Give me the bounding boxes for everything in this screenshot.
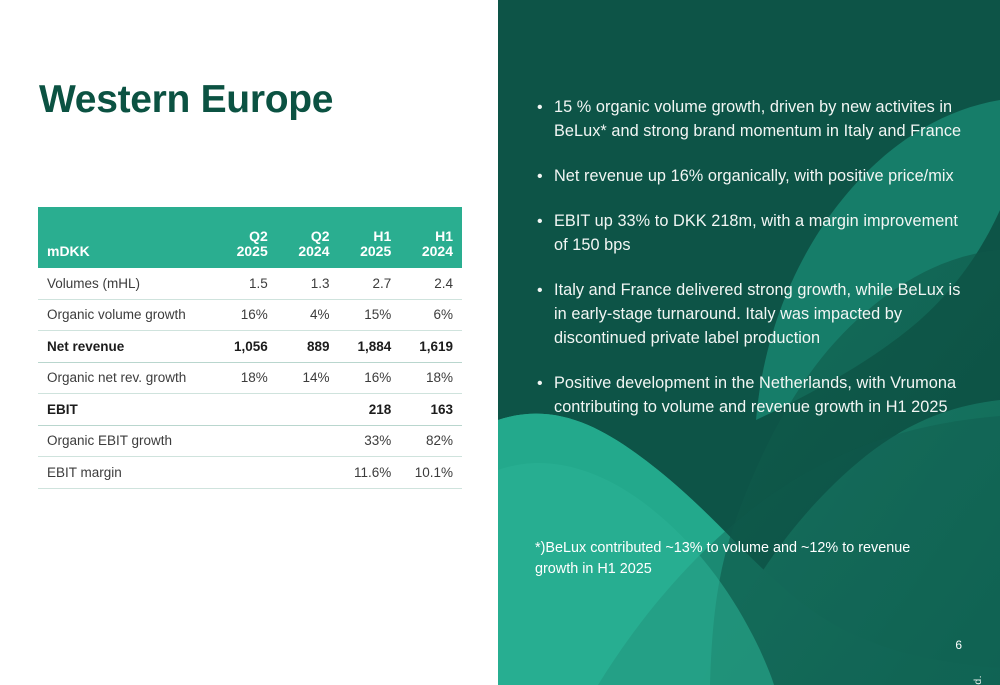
bullet-dot-icon: • (537, 96, 543, 120)
list-item-text: Italy and France delivered strong growth… (554, 281, 960, 347)
row-value-q2-2024: 889 (277, 331, 339, 363)
column-header-q2-2025: Q2 2025 (215, 207, 277, 268)
page-title: Western Europe (39, 78, 333, 122)
row-value-q2-2025 (215, 425, 277, 457)
list-item-text: 15 % organic volume growth, driven by ne… (554, 98, 961, 140)
column-header-h1-2025: H1 2025 (339, 207, 401, 268)
table-row: Organic volume growth 16% 4% 15% 6% (38, 299, 462, 331)
list-item-text: Positive development in the Netherlands,… (554, 374, 956, 416)
row-value-h1-2024: 1,619 (400, 331, 462, 363)
row-label: Organic volume growth (38, 299, 215, 331)
table-row: EBIT margin 11.6% 10.1% (38, 457, 462, 489)
table-row: Organic net rev. growth 18% 14% 16% 18% (38, 362, 462, 394)
page-number: 6 (955, 638, 962, 652)
row-value-h1-2024: 10.1% (400, 457, 462, 489)
list-item: • Positive development in the Netherland… (535, 372, 965, 420)
column-header-h1-2024: H1 2024 (400, 207, 462, 268)
row-value-q2-2025 (215, 394, 277, 426)
row-label: EBIT (38, 394, 215, 426)
table-row: Net revenue 1,056 889 1,884 1,619 (38, 331, 462, 363)
row-value-h1-2025: 15% (339, 299, 401, 331)
list-item: • Net revenue up 16% organically, with p… (535, 165, 965, 189)
list-item: • 15 % organic volume growth, driven by … (535, 96, 965, 144)
unit-label: mDKK (47, 244, 215, 260)
column-header-line1: Q2 (215, 229, 268, 245)
row-label: Organic net rev. growth (38, 362, 215, 394)
bullet-dot-icon: • (537, 372, 543, 396)
bullet-dot-icon: • (537, 210, 543, 234)
row-value-h1-2024: 6% (400, 299, 462, 331)
row-value-h1-2024: 18% (400, 362, 462, 394)
row-label: EBIT margin (38, 457, 215, 489)
highlights-panel: • 15 % organic volume growth, driven by … (498, 0, 1000, 685)
bullet-dot-icon: • (537, 165, 543, 189)
row-value-q2-2025: 16% (215, 299, 277, 331)
row-value-q2-2024 (277, 394, 339, 426)
row-value-q2-2024: 4% (277, 299, 339, 331)
column-header-unit: mDKK (38, 207, 215, 268)
row-value-q2-2025 (215, 457, 277, 489)
row-value-q2-2024 (277, 425, 339, 457)
row-value-q2-2024: 1.3 (277, 268, 339, 299)
row-label: Organic EBIT growth (38, 425, 215, 457)
left-content-pane: Western Europe mDKK Q2 2025 Q2 2024 (0, 0, 498, 685)
bullet-dot-icon: • (537, 279, 543, 303)
list-item: • EBIT up 33% to DKK 218m, with a margin… (535, 210, 965, 258)
row-value-h1-2025: 16% (339, 362, 401, 394)
column-header-line1: H1 (339, 229, 392, 245)
row-value-h1-2025: 218 (339, 394, 401, 426)
table-header-row: mDKK Q2 2025 Q2 2024 H1 2025 (38, 207, 462, 268)
row-value-h1-2025: 1,884 (339, 331, 401, 363)
list-item-text: EBIT up 33% to DKK 218m, with a margin i… (554, 212, 958, 254)
column-header-line2: 2025 (339, 244, 392, 260)
highlight-bullet-list: • 15 % organic volume growth, driven by … (535, 96, 965, 441)
copyright-notice: Copyright © Royal Unibrew. All rights re… (972, 675, 984, 685)
row-value-q2-2025: 18% (215, 362, 277, 394)
table-body: Volumes (mHL) 1.5 1.3 2.7 2.4 Organic vo… (38, 268, 462, 488)
row-value-h1-2025: 33% (339, 425, 401, 457)
slide-root: Western Europe mDKK Q2 2025 Q2 2024 (0, 0, 1000, 685)
row-value-h1-2024: 2.4 (400, 268, 462, 299)
row-value-h1-2024: 163 (400, 394, 462, 426)
row-value-q2-2025: 1.5 (215, 268, 277, 299)
column-header-line1: Q2 (277, 229, 330, 245)
row-value-h1-2024: 82% (400, 425, 462, 457)
column-header-line2: 2024 (400, 244, 453, 260)
column-header-line2: 2025 (215, 244, 268, 260)
table-row: Volumes (mHL) 1.5 1.3 2.7 2.4 (38, 268, 462, 299)
column-header-line2: 2024 (277, 244, 330, 260)
row-value-q2-2024: 14% (277, 362, 339, 394)
list-item: • Italy and France delivered strong grow… (535, 279, 965, 351)
column-header-line1: H1 (400, 229, 453, 245)
financial-metrics-table: mDKK Q2 2025 Q2 2024 H1 2025 (38, 207, 462, 489)
list-item-text: Net revenue up 16% organically, with pos… (554, 167, 954, 185)
row-value-h1-2025: 2.7 (339, 268, 401, 299)
table-header: mDKK Q2 2025 Q2 2024 H1 2025 (38, 207, 462, 268)
row-value-q2-2025: 1,056 (215, 331, 277, 363)
row-label: Net revenue (38, 331, 215, 363)
table-row: Organic EBIT growth 33% 82% (38, 425, 462, 457)
table-row: EBIT 218 163 (38, 394, 462, 426)
footnote-text: *)BeLux contributed ~13% to volume and ~… (535, 538, 955, 579)
row-label: Volumes (mHL) (38, 268, 215, 299)
row-value-q2-2024 (277, 457, 339, 489)
column-header-q2-2024: Q2 2024 (277, 207, 339, 268)
row-value-h1-2025: 11.6% (339, 457, 401, 489)
